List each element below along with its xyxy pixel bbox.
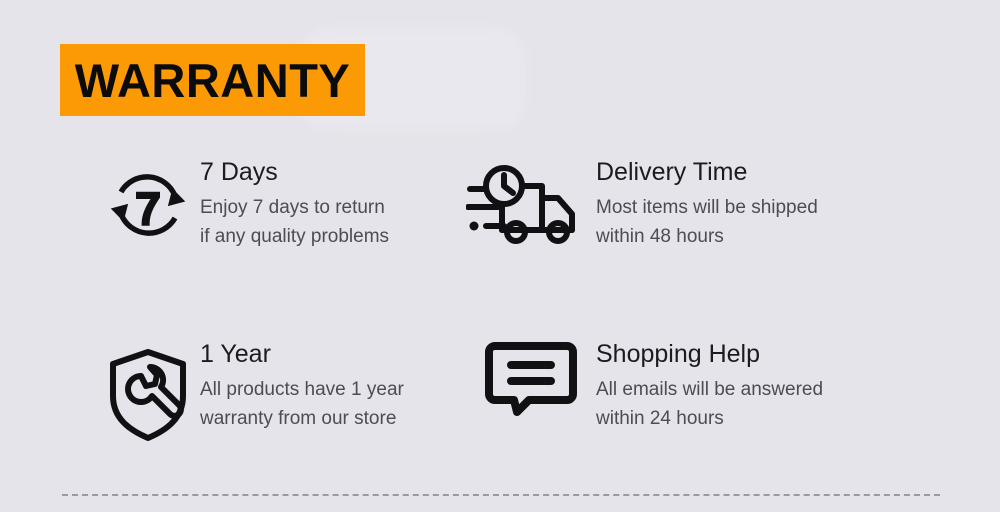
svg-text:7: 7 <box>136 185 160 234</box>
feature-description-line-1: All emails will be answered <box>596 375 823 404</box>
feature-description-line-1: Enjoy 7 days to return <box>200 193 389 222</box>
feature-delivery-time-text: Delivery Time Most items will be shipped… <box>596 148 818 252</box>
feature-description-line-1: Most items will be shipped <box>596 193 818 222</box>
feature-7-days-text: 7 Days Enjoy 7 days to return if any qua… <box>200 148 389 252</box>
speech-bubble-icon <box>466 330 596 426</box>
delivery-truck-clock-icon <box>466 148 596 244</box>
bottom-dashed-divider <box>62 494 940 496</box>
feature-description-line-2: if any quality problems <box>200 222 389 251</box>
return-7-days-icon: 7 <box>96 148 200 244</box>
feature-1-year: 1 Year All products have 1 year warranty… <box>0 330 450 512</box>
feature-title: 1 Year <box>200 340 404 369</box>
features-grid: 7 7 Days Enjoy 7 days to return if any q… <box>0 148 1000 512</box>
feature-1-year-text: 1 Year All products have 1 year warranty… <box>200 330 404 434</box>
feature-7-days: 7 7 Days Enjoy 7 days to return if any q… <box>0 148 450 330</box>
feature-shopping-help: Shopping Help All emails will be answere… <box>450 330 920 512</box>
feature-shopping-help-text: Shopping Help All emails will be answere… <box>596 330 823 434</box>
feature-title: Shopping Help <box>596 340 823 369</box>
feature-title: Delivery Time <box>596 158 818 187</box>
warranty-banner: WARRANTY <box>60 44 365 116</box>
features-row-bottom: 1 Year All products have 1 year warranty… <box>0 330 1000 512</box>
feature-delivery-time: Delivery Time Most items will be shipped… <box>450 148 920 330</box>
feature-description-line-2: within 48 hours <box>596 222 818 251</box>
feature-description-line-2: within 24 hours <box>596 404 823 433</box>
feature-title: 7 Days <box>200 158 389 187</box>
warranty-banner-label: WARRANTY <box>75 57 351 104</box>
feature-description-line-2: warranty from our store <box>200 404 404 433</box>
features-row-top: 7 7 Days Enjoy 7 days to return if any q… <box>0 148 1000 330</box>
feature-description-line-1: All products have 1 year <box>200 375 404 404</box>
shield-wrench-icon <box>96 330 200 426</box>
